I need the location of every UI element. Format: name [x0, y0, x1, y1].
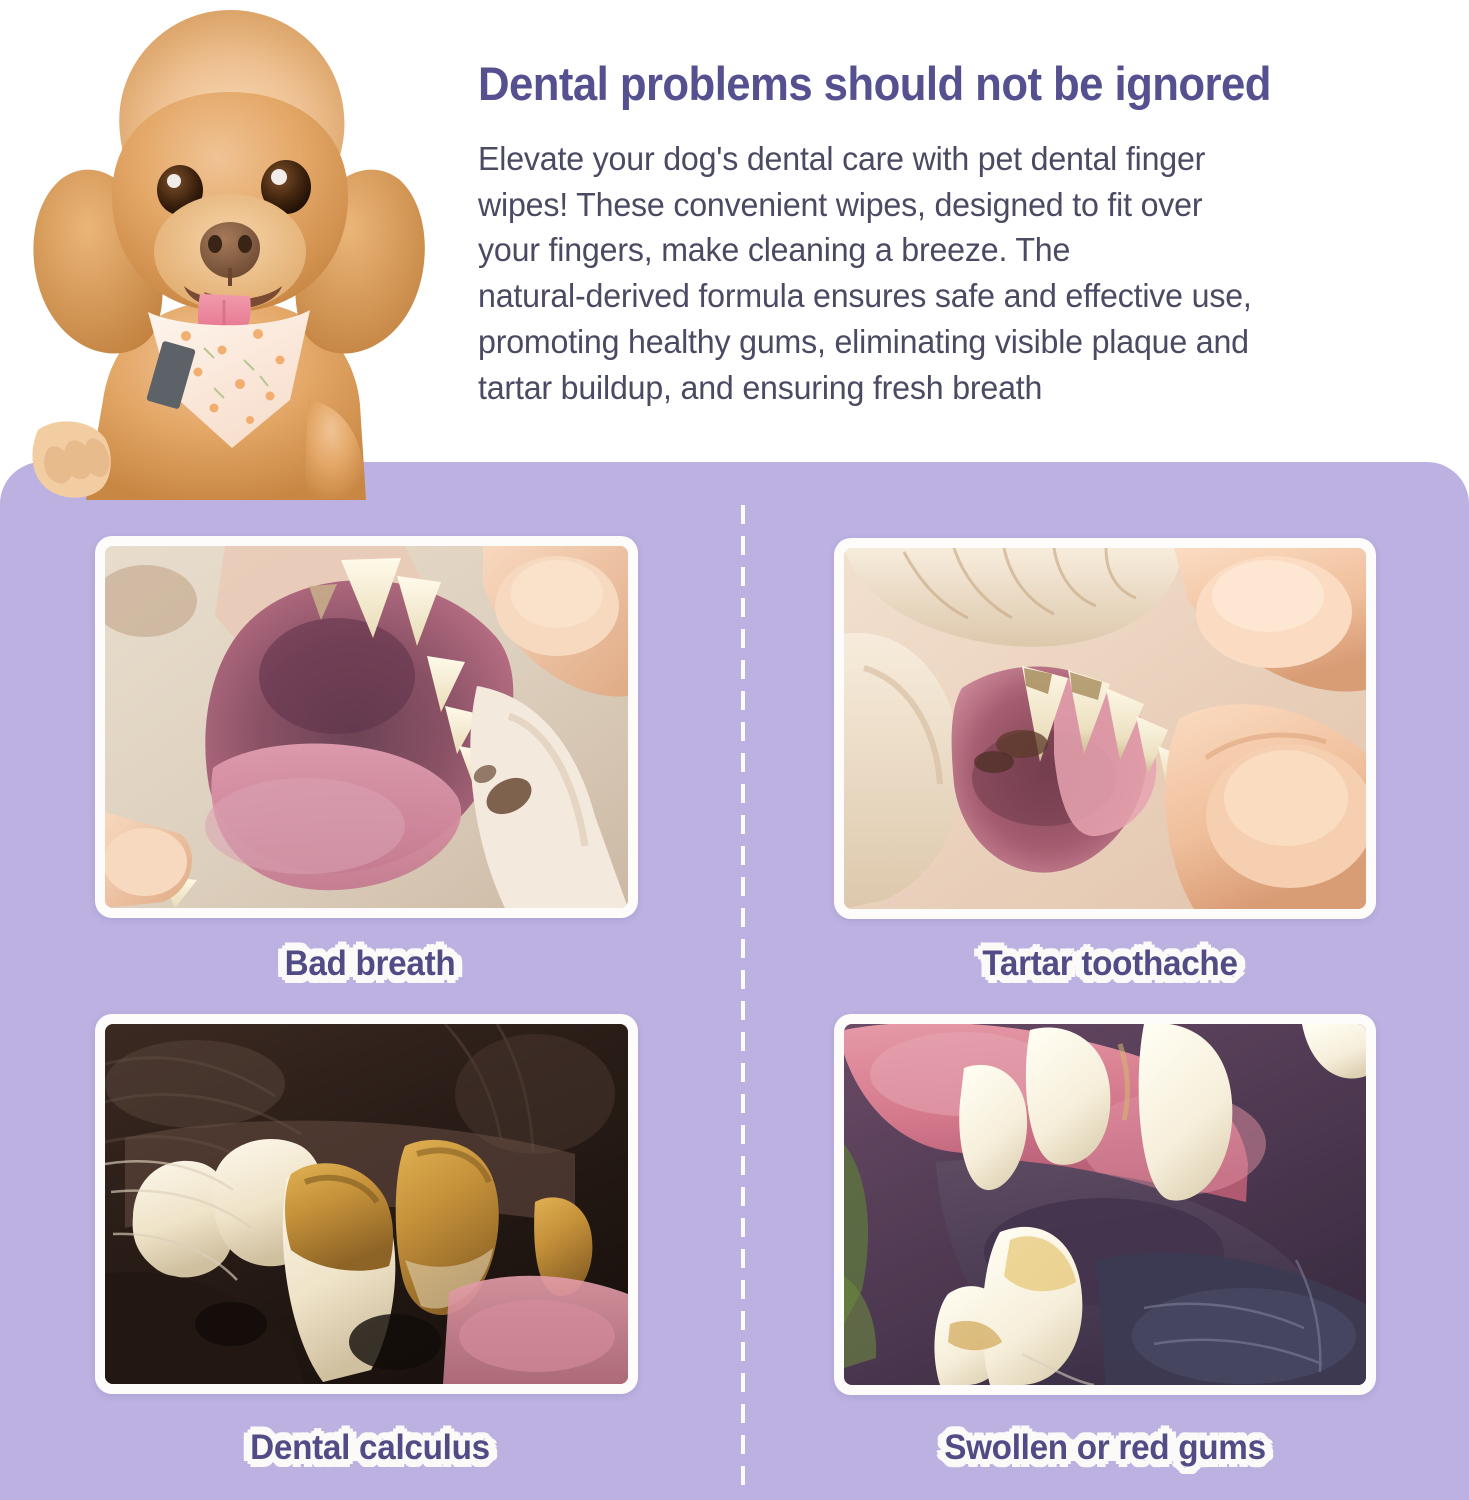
symptom-card-bad-breath[interactable] [95, 536, 638, 918]
caption-dental-calculus: Dental calculus [175, 1422, 565, 1473]
dog-photo [8, 0, 448, 510]
symptom-card-dental-calculus[interactable] [95, 1014, 638, 1394]
photo-bad-breath [105, 546, 628, 908]
description-line: natural-derived formula ensures safe and… [478, 274, 1467, 320]
vertical-dashed-divider [741, 505, 745, 1490]
infographic-page: Dental problems should not be ignored El… [0, 0, 1469, 1500]
description-line: your fingers, make cleaning a breeze. Th… [478, 228, 1467, 274]
symptom-card-swollen-red-gums[interactable] [834, 1014, 1376, 1395]
photo-tartar-toothache [844, 548, 1366, 909]
header-text-block: Dental problems should not be ignored El… [478, 58, 1468, 412]
photo-dental-calculus [105, 1024, 628, 1384]
product-description: Elevate your dog's dental care with pet … [478, 137, 1467, 412]
page-title: Dental problems should not be ignored [478, 58, 1399, 111]
description-line: Elevate your dog's dental care with pet … [478, 137, 1467, 183]
caption-swollen-red-gums: Swollen or red gums [891, 1422, 1319, 1473]
caption-tartar-toothache: Tartar toothache [925, 938, 1296, 989]
description-line: promoting healthy gums, eliminating visi… [478, 320, 1467, 366]
caption-bad-breath: Bad breath [190, 938, 551, 989]
photo-swollen-red-gums [844, 1024, 1366, 1385]
description-line: wipes! These convenient wipes, designed … [478, 183, 1467, 229]
description-line: tartar buildup, and ensuring fresh breat… [478, 366, 1467, 412]
symptom-card-tartar-toothache[interactable] [834, 538, 1376, 919]
